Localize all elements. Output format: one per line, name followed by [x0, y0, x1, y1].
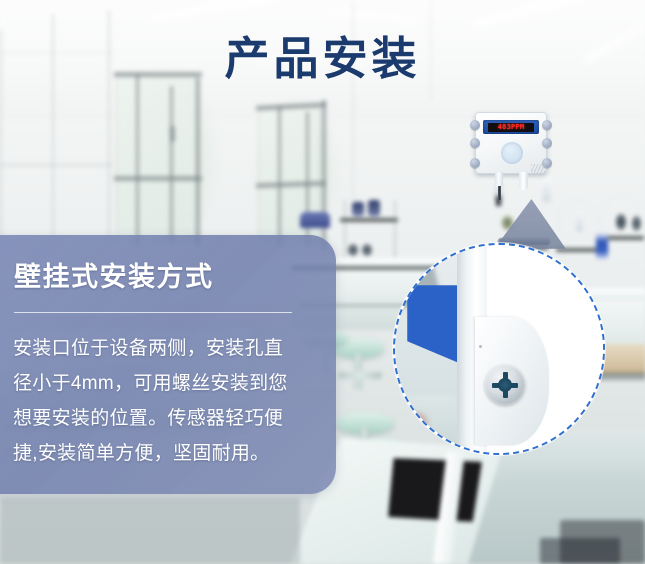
- glass-flask: [362, 244, 372, 256]
- window-mullion: [114, 176, 202, 181]
- panel-body-text: 安装口位于设备两侧，安装孔直 径小于4mm，可用螺丝安装到您 想要安装的位置。传…: [13, 331, 313, 471]
- product-installation-banner: 产品安装 483PPM: [0, 0, 645, 564]
- mounting-tab-icon: [470, 120, 480, 130]
- mounting-tab-icon: [470, 138, 480, 148]
- panel-divider: [14, 312, 292, 313]
- window-mullion: [170, 86, 173, 244]
- window-handle: [170, 126, 175, 142]
- sensor-vent-icon: [501, 142, 523, 164]
- panel-body-line: 安装口位于设备两侧，安装孔直: [13, 331, 313, 366]
- glass-flask: [352, 202, 364, 216]
- glass-flask: [348, 244, 358, 256]
- sensor-probe-secondary: [519, 172, 528, 190]
- wall-panel-seam: [0, 164, 112, 166]
- panel-body-line: 捷,安装简单方便，坚固耐用。: [13, 436, 313, 471]
- sensor-display-bezel: 483PPM: [483, 120, 539, 134]
- zoom-detail-content: [395, 245, 603, 453]
- glass-flask: [368, 200, 380, 216]
- wall-mounted-sensor-device: 483PPM: [469, 112, 553, 180]
- sink-basin: [388, 458, 482, 522]
- rack-shelf: [606, 236, 644, 240]
- window-left: [116, 74, 196, 244]
- floor-shadow: [560, 520, 645, 564]
- lab-stool-base: [338, 372, 382, 379]
- sensor-grill-icon: [531, 164, 545, 174]
- window-mullion: [136, 74, 139, 246]
- mounting-tab-icon: [470, 158, 480, 168]
- window-frame-post: [196, 78, 200, 246]
- page-title: 产品安装: [0, 22, 645, 87]
- bench-equipment: [300, 212, 330, 228]
- installation-info-panel: 壁挂式安装方式 安装口位于设备两侧，安装孔直 径小于4mm，可用螺丝安装到您 想…: [0, 235, 336, 494]
- rack-post: [344, 200, 346, 260]
- reagent-bottle: [576, 214, 583, 232]
- sensor-display-reading: 483PPM: [488, 123, 534, 132]
- bench-edge-trim: [596, 372, 645, 380]
- mounting-tab-icon: [542, 120, 552, 130]
- screw-head-center: [498, 378, 512, 392]
- window-mullion: [278, 106, 281, 246]
- glass-flask: [632, 216, 641, 231]
- panel-body-line: 径小于4mm，可用螺丝安装到您: [13, 366, 313, 401]
- detail-background-tint: [401, 413, 427, 435]
- sensor-probe-wire: [498, 186, 501, 200]
- floor-shadow: [0, 498, 300, 564]
- mounting-tab-icon: [542, 138, 552, 148]
- panel-heading: 壁挂式安装方式: [14, 255, 214, 294]
- glass-flask: [616, 214, 626, 230]
- zoom-detail-circle: [393, 243, 605, 455]
- rack-shelf: [340, 218, 398, 222]
- panel-body-line: 想要安装的位置。传感器轻巧便: [13, 401, 313, 436]
- detail-surface-dot: [479, 345, 482, 348]
